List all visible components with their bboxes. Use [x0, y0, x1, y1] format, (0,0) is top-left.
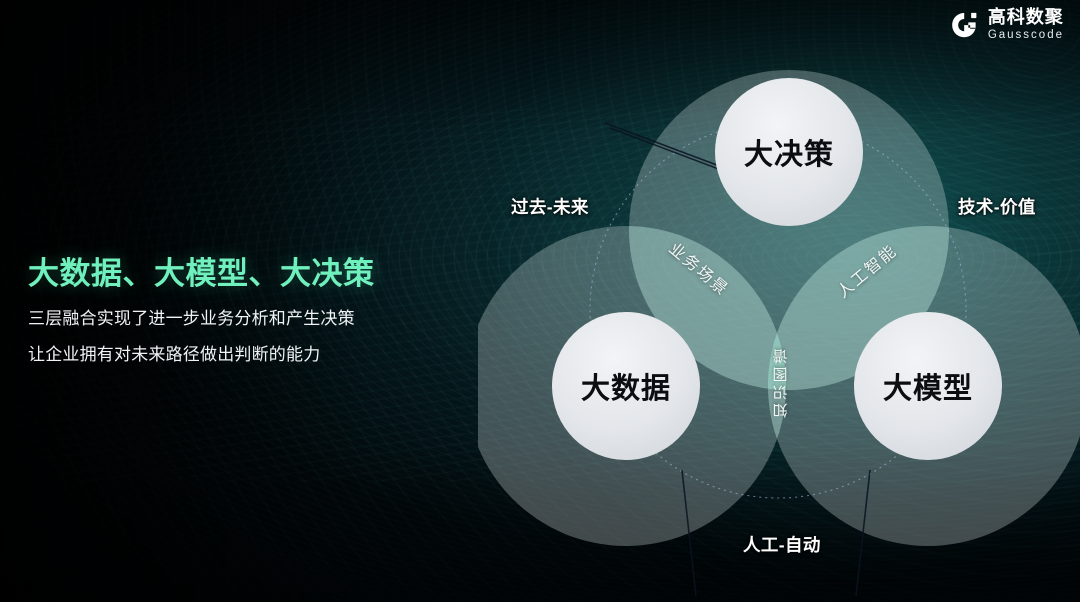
gausscode-mark-icon: [949, 10, 979, 40]
subtitle-line-2: 让企业拥有对未来路径做出判断的能力: [28, 345, 468, 366]
axis-label-technology-value: 技术-价值: [958, 194, 1036, 219]
subtitle-line-1: 三层融合实现了进一步业务分析和产生决策: [28, 309, 468, 330]
logo-english-name: Gausscode: [988, 30, 1064, 42]
axis-label-past-future: 过去-未来: [511, 194, 589, 219]
headline-block: 大数据、大模型、大决策 三层融合实现了进一步业务分析和产生决策 让企业拥有对未来…: [28, 256, 468, 366]
axis-label-manual-automatic: 人工-自动: [743, 532, 821, 557]
brand-logo: 高科数聚 Gausscode: [949, 8, 1064, 42]
overlap-label-knowledge-graph: 知识图谱: [771, 346, 792, 418]
logo-chinese-name: 高科数聚: [988, 8, 1064, 26]
venn-diagram: [478, 0, 1080, 602]
core-label-top: 大决策: [744, 131, 834, 173]
venn-svg: [478, 0, 1080, 602]
core-label-bottom-right: 大模型: [883, 365, 973, 407]
slide-canvas: 高科数聚 Gausscode 大数据、大模型、大决策 三层融合实现了进一步业务分…: [0, 0, 1080, 602]
page-title: 大数据、大模型、大决策: [28, 256, 468, 293]
core-label-bottom-left: 大数据: [581, 365, 671, 407]
